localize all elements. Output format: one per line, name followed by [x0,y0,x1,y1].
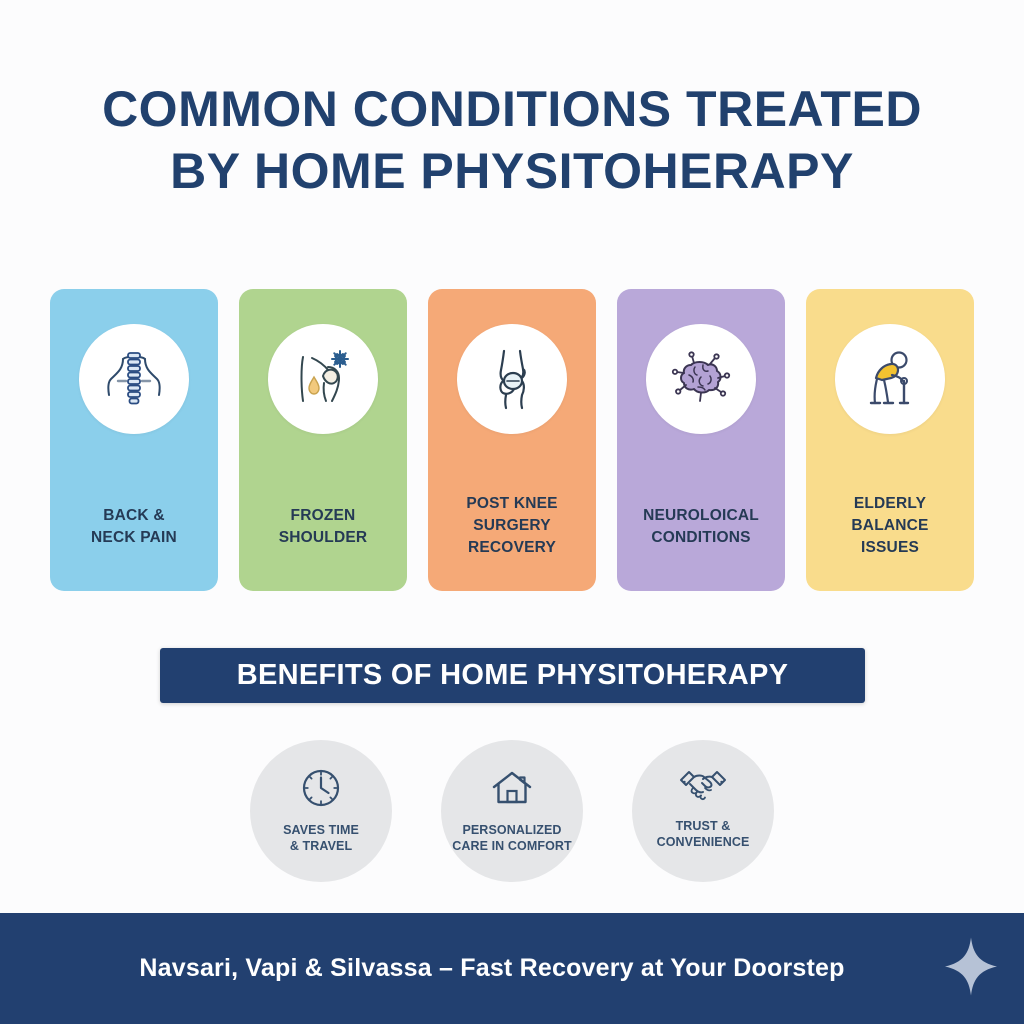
label-line: & TRAVEL [246,838,396,854]
label-line: NEUROLOICAL [623,505,779,527]
label-line: CONDITIONS [623,527,779,549]
title-line-1: COMMON CONDITIONS TREATED [0,78,1024,140]
label-line: BALANCE [812,515,968,537]
condition-card-elderly-balance-issues[interactable]: ELDERLY BALANCE ISSUES [806,289,974,591]
frozen-shoulder-icon [287,343,359,415]
label-line: CARE IN COMFORT [437,838,587,854]
condition-card-neurological-conditions[interactable]: NEUROLOICAL CONDITIONS [617,289,785,591]
benefit-label: TRUST & CONVENIENCE [628,818,778,850]
label-line: SURGERY [434,515,590,537]
handshake-icon [677,764,729,808]
condition-card-label: FROZEN SHOULDER [245,505,401,549]
condition-card-label: POST KNEE SURGERY RECOVERY [434,493,590,559]
brain-icon [665,343,737,415]
icon-circle [835,324,945,434]
page-title: COMMON CONDITIONS TREATED BY HOME PHYSIT… [0,78,1024,202]
spine-icon [98,343,170,415]
icon-circle [457,324,567,434]
benefit-label: PERSONALIZED CARE IN COMFORT [437,822,587,854]
benefits-banner-heading: BENEFITS OF HOME PHYSITOHERAPY [237,659,788,692]
condition-card-label: BACK & NECK PAIN [56,505,212,549]
footer-tagline: Navsari, Vapi & Silvassa – Fast Recovery… [0,954,1024,983]
condition-card-back-neck-pain[interactable]: BACK & NECK PAIN [50,289,218,591]
benefit-trust-convenience[interactable]: TRUST & CONVENIENCE [632,740,774,882]
benefits-row: SAVES TIME & TRAVEL PERSONALIZED CARE IN… [250,740,774,882]
condition-card-label: NEUROLOICAL CONDITIONS [623,505,779,549]
condition-card-frozen-shoulder[interactable]: FROZEN SHOULDER [239,289,407,591]
label-line: ELDERLY [812,493,968,515]
label-line: TRUST & [628,818,778,834]
elderly-walking-cane-icon [854,343,926,415]
benefit-saves-time-travel[interactable]: SAVES TIME & TRAVEL [250,740,392,882]
label-line: FROZEN [245,505,401,527]
icon-circle [646,324,756,434]
label-line: NECK PAIN [56,527,212,549]
infographic-poster: COMMON CONDITIONS TREATED BY HOME PHYSIT… [0,0,1024,1024]
clock-icon [297,764,345,812]
benefit-label: SAVES TIME & TRAVEL [246,822,396,854]
condition-card-post-knee-surgery[interactable]: POST KNEE SURGERY RECOVERY [428,289,596,591]
condition-card-label: ELDERLY BALANCE ISSUES [812,493,968,559]
label-line: ISSUES [812,537,968,559]
benefit-personalized-care[interactable]: PERSONALIZED CARE IN COMFORT [441,740,583,882]
label-line: PERSONALIZED [437,822,587,838]
benefits-banner: BENEFITS OF HOME PHYSITOHERAPY [160,648,865,703]
knee-joint-icon [476,343,548,415]
label-line: BACK & [56,505,212,527]
house-icon [488,764,536,812]
icon-circle [268,324,378,434]
conditions-card-row: BACK & NECK PAIN [50,289,974,591]
title-line-2: BY HOME PHYSITOHERAPY [0,140,1024,202]
label-line: SAVES TIME [246,822,396,838]
label-line: POST KNEE [434,493,590,515]
icon-circle [79,324,189,434]
footer-bar: Navsari, Vapi & Silvassa – Fast Recovery… [0,913,1024,1024]
label-line: SHOULDER [245,527,401,549]
sparkle-star-icon [943,935,999,1002]
label-line: CONVENIENCE [628,834,778,850]
label-line: RECOVERY [434,537,590,559]
